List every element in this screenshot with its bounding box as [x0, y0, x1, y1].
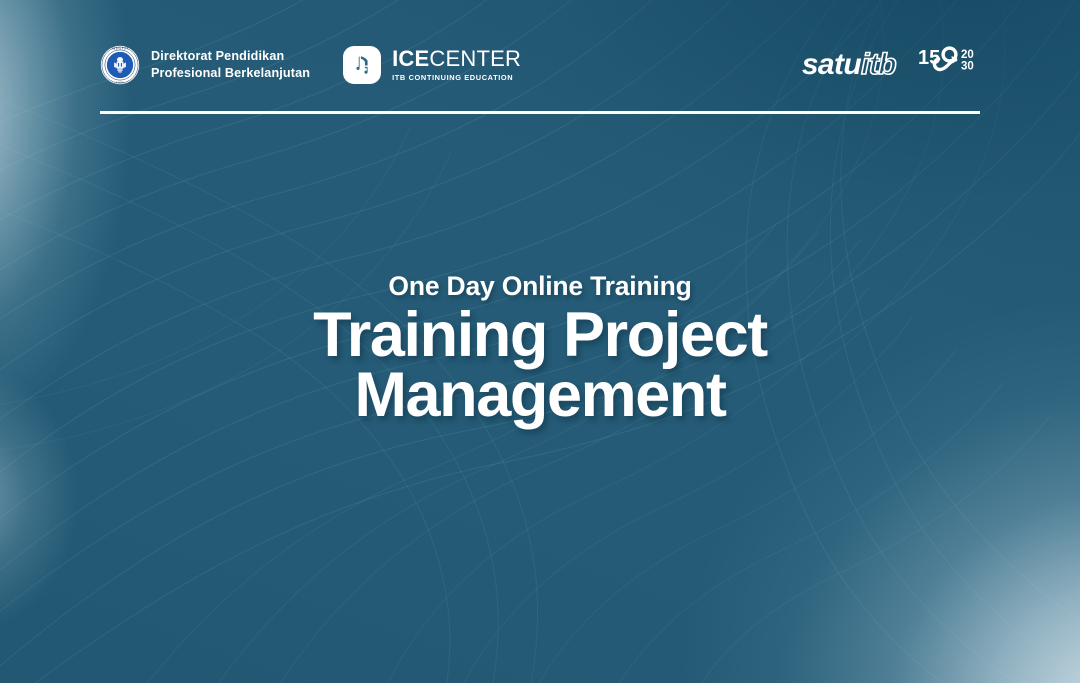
ice-center-mark-icon — [343, 46, 381, 84]
ice-title-bold: ICE — [392, 46, 429, 71]
itb-outline-text: itb — [861, 48, 896, 81]
hero-section: One Day Online Training Training Project… — [0, 272, 1080, 426]
hero-title: Training Project Management — [0, 305, 1080, 426]
hero-title-line-1: Training Project — [0, 305, 1080, 365]
satu-itb-wordmark: satuitb — [802, 50, 896, 80]
ice-title-rest: CENTER — [429, 46, 521, 71]
header-divider — [100, 111, 980, 114]
svg-text:20: 20 — [961, 49, 974, 61]
itb-seal-icon: I N S T I T U T 1 9 5 9 — [100, 45, 140, 85]
hero-title-line-2: Management — [0, 365, 1080, 425]
svg-text:I N S T I T U T: I N S T I T U T — [112, 48, 129, 51]
directorate-name: Direktorat Pendidikan Profesional Berkel… — [151, 48, 310, 81]
ice-center-title: ICECENTER — [392, 48, 521, 70]
poster-header: I N S T I T U T 1 9 5 9 — [100, 38, 980, 92]
ice-center-subtitle: ITB CONTINUING EDUCATION — [392, 73, 521, 82]
itb-150-anniversary-icon: 15 20 30 — [918, 44, 980, 86]
itb-directorate-lockup: I N S T I T U T 1 9 5 9 — [100, 45, 310, 85]
partner-marks: satuitb 15 20 30 — [802, 44, 980, 86]
directorate-line-1: Direktorat Pendidikan — [151, 48, 310, 65]
hero-eyebrow: One Day Online Training — [0, 272, 1080, 301]
satu-text: satu — [802, 48, 861, 81]
directorate-line-2: Profesional Berkelanjutan — [151, 65, 310, 82]
svg-text:30: 30 — [961, 61, 974, 73]
training-poster: I N S T I T U T 1 9 5 9 — [0, 0, 1080, 683]
ice-center-wordmark: ICECENTER ITB CONTINUING EDUCATION — [392, 48, 521, 82]
ice-center-lockup: ICECENTER ITB CONTINUING EDUCATION — [343, 46, 521, 84]
svg-text:1 9 5 9: 1 9 5 9 — [116, 81, 124, 84]
